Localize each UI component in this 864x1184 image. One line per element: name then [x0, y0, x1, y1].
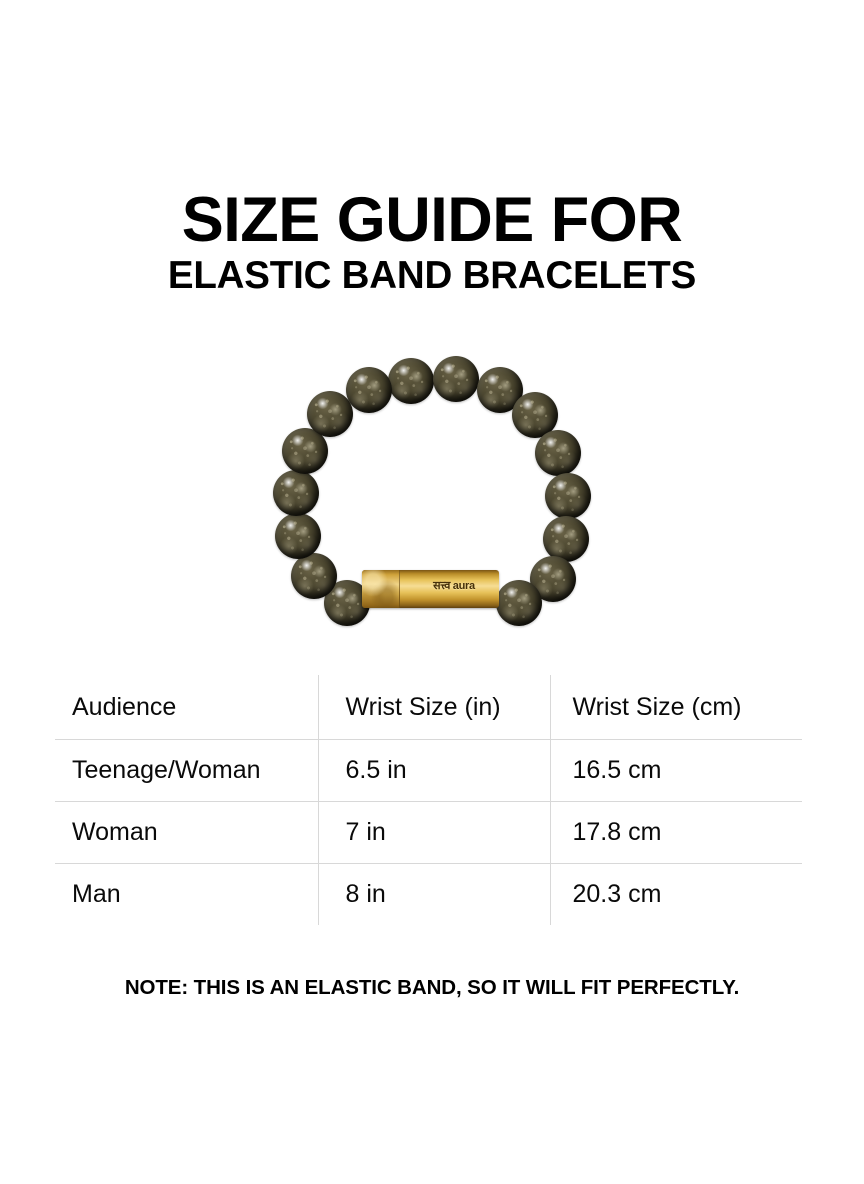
bracelet-product-image: सत्त्व aura — [258, 348, 606, 648]
footer-note: NOTE: THIS IS AN ELASTIC BAND, SO IT WIL… — [0, 976, 864, 1000]
bracelet-bead — [275, 513, 321, 559]
cell-wrist-size-in: 8 in — [318, 864, 550, 926]
column-header-wrist-size-in: Wrist Size (in) — [318, 675, 550, 740]
page-title: SIZE GUIDE FOR — [0, 188, 864, 252]
table-header-row: Audience Wrist Size (in) Wrist Size (cm) — [55, 675, 802, 740]
bracelet-bead — [433, 356, 479, 402]
cell-audience: Woman — [55, 802, 318, 864]
bracelet-bead — [307, 391, 353, 437]
column-header-audience: Audience — [55, 675, 318, 740]
cell-wrist-size-cm: 20.3 cm — [550, 864, 802, 926]
bracelet-gold-bar: सत्त्व aura — [362, 570, 499, 608]
cell-wrist-size-cm: 17.8 cm — [550, 802, 802, 864]
cell-audience: Man — [55, 864, 318, 926]
cell-wrist-size-in: 6.5 in — [318, 740, 550, 802]
bracelet-bead — [273, 470, 319, 516]
table-row: Teenage/Woman 6.5 in 16.5 cm — [55, 740, 802, 802]
size-chart-table: Audience Wrist Size (in) Wrist Size (cm)… — [55, 675, 802, 925]
bracelet-bead — [291, 553, 337, 599]
cell-wrist-size-cm: 16.5 cm — [550, 740, 802, 802]
table-row: Man 8 in 20.3 cm — [55, 864, 802, 926]
bracelet-bead — [535, 430, 581, 476]
bracelet-bead — [545, 473, 591, 519]
gold-bar-hammered-cap — [362, 570, 400, 608]
page-header: SIZE GUIDE FOR ELASTIC BAND BRACELETS — [0, 188, 864, 297]
cell-wrist-size-in: 7 in — [318, 802, 550, 864]
page-subtitle: ELASTIC BAND BRACELETS — [0, 256, 864, 296]
table-row: Woman 7 in 17.8 cm — [55, 802, 802, 864]
bracelet-bead — [346, 367, 392, 413]
bracelet-bead — [496, 580, 542, 626]
column-header-wrist-size-cm: Wrist Size (cm) — [550, 675, 802, 740]
bracelet-bead — [543, 516, 589, 562]
cell-audience: Teenage/Woman — [55, 740, 318, 802]
bracelet-bead — [388, 358, 434, 404]
brand-engraving: सत्त्व aura — [418, 581, 490, 592]
